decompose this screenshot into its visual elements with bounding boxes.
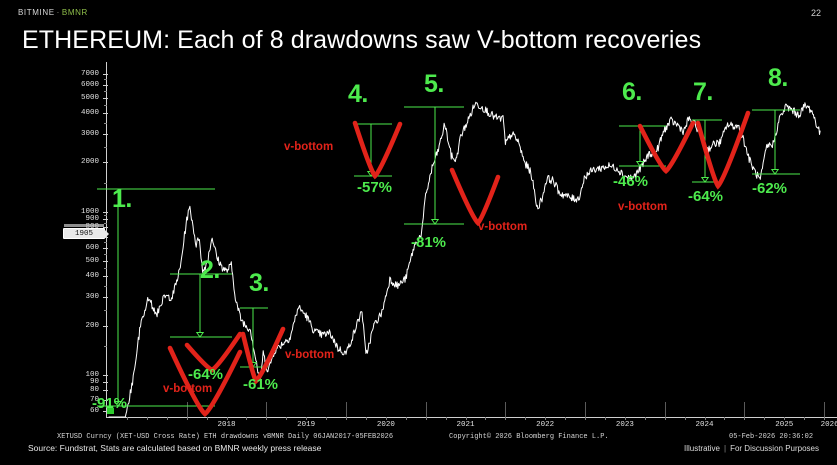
- disclaimer-separator: |: [724, 444, 726, 453]
- terminal-caption-left: XETUSD Curncy (XET-USD Cross Rate) ETH d…: [57, 433, 393, 440]
- brand-name: BITMINE: [18, 8, 55, 17]
- brand-separator: ·: [57, 8, 60, 17]
- price-series-plot: [57, 62, 837, 440]
- price-line: [109, 102, 821, 417]
- disclaimer-left: Illustrative: [684, 444, 720, 453]
- terminal-caption-right: 05-Feb-2026 20:36:02: [729, 433, 813, 440]
- price-tag-shadow: [64, 224, 104, 227]
- price-marker: 1905: [63, 228, 105, 239]
- page-number: 22: [811, 8, 821, 18]
- source-note: Source: Fundstrat, Stats are calculated …: [28, 443, 321, 453]
- brand-ticker: BMNR: [62, 8, 88, 17]
- low-marker: [107, 408, 114, 414]
- disclaimer-right: For Discussion Purposes: [730, 444, 819, 453]
- brand-label: BITMINE·BMNR: [18, 8, 88, 17]
- slide-root: BITMINE·BMNR 22 ETHEREUM: Each of 8 draw…: [0, 0, 837, 465]
- chart-panel: 7000600050004000300020001000900800700600…: [57, 62, 837, 440]
- disclaimer-note: Illustrative|For Discussion Purposes: [684, 444, 819, 453]
- terminal-caption-center: Copyright© 2026 Bloomberg Finance L.P.: [449, 433, 609, 440]
- page-title: ETHEREUM: Each of 8 drawdowns saw V-bott…: [22, 26, 701, 55]
